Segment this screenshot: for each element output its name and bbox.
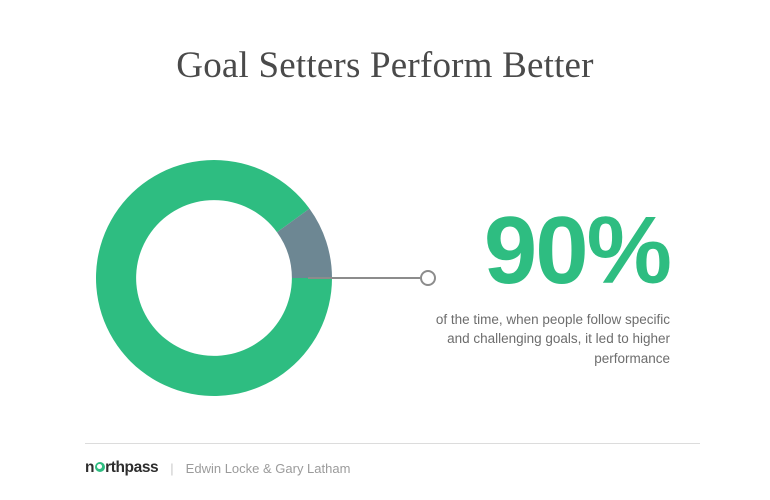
stat-callout: 90% of the time, when people follow spec… <box>425 205 670 368</box>
page-title: Goal Setters Perform Better <box>0 44 770 88</box>
stat-value: 90% <box>425 205 670 296</box>
donut-chart-svg <box>94 158 334 398</box>
attribution-text: Edwin Locke & Gary Latham <box>186 461 351 476</box>
logo-text-pre: n <box>85 459 94 477</box>
leader-line-svg <box>300 258 445 298</box>
footer: n rthpass | Edwin Locke & Gary Latham <box>85 458 350 478</box>
infographic-canvas: Goal Setters Perform Better 90% of the t… <box>0 0 770 500</box>
logo-text-post: rthpass <box>105 459 158 477</box>
donut-chart <box>94 158 334 398</box>
footer-divider <box>85 443 700 444</box>
stat-caption: of the time, when people follow specific… <box>425 310 670 367</box>
footer-separator: | <box>170 461 173 476</box>
logo-dot-icon <box>95 462 105 472</box>
callout-leader <box>300 258 445 298</box>
northpass-logo[interactable]: n rthpass <box>85 459 158 477</box>
